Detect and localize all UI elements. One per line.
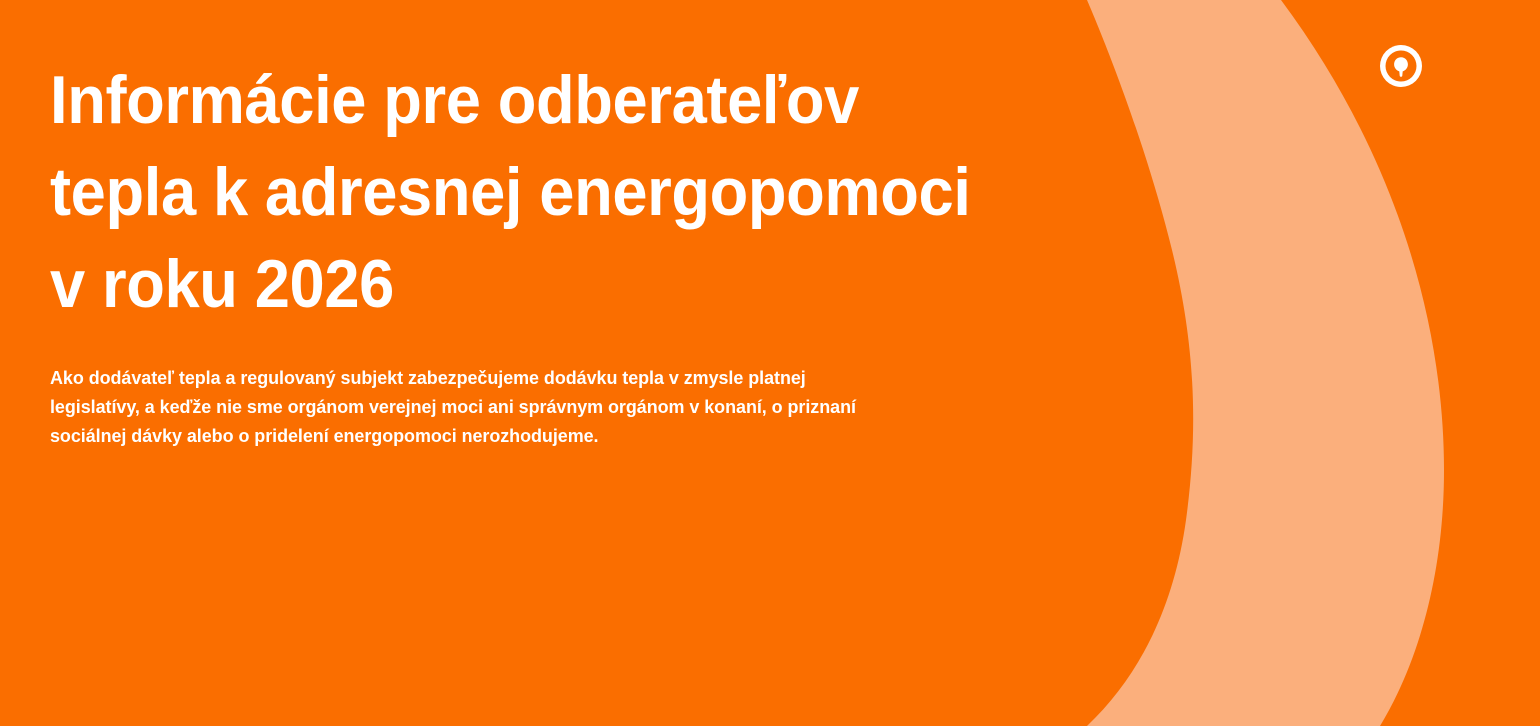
hero-banner: Informácie pre odberateľov tepla k adres… [0, 0, 1540, 726]
intro-paragraph: Ako dodávateľ tepla a regulovaný subjekt… [50, 363, 1059, 450]
banner-content: Informácie pre odberateľov tepla k adres… [50, 0, 1080, 726]
page-title: Informácie pre odberateľov tepla k adres… [50, 54, 999, 330]
arc-band-shape [1087, 0, 1444, 726]
brand-logo [1379, 44, 1423, 88]
